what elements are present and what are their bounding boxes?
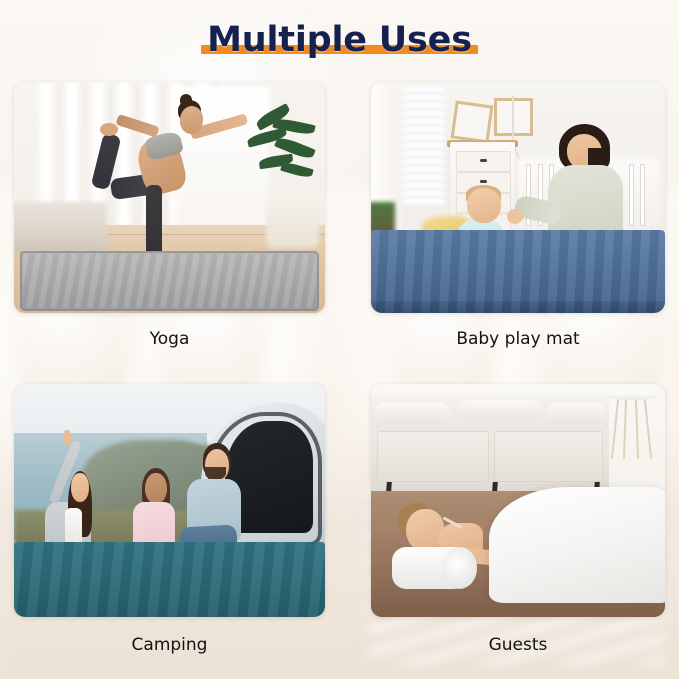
panel-guests[interactable] [371, 384, 665, 617]
title-text: Multiple Uses [207, 23, 472, 58]
guests-duvet [489, 487, 665, 604]
yoga-raised-foot [100, 123, 118, 136]
baby-play-mat-object [371, 230, 665, 313]
title-wrapper: Multiple Uses [201, 23, 478, 58]
woman-pointing-hand [63, 430, 71, 444]
panel-yoga[interactable] [14, 82, 325, 313]
guests-bolster-pillow-end [442, 547, 477, 589]
woman-head [71, 473, 89, 502]
caption-yoga: Yoga [14, 331, 325, 348]
baby-head [467, 188, 501, 223]
sofa-bolster [547, 403, 606, 424]
yoga-mat-texture [23, 254, 316, 308]
camping-mat [14, 542, 325, 617]
panel-baby-play-mat[interactable] [371, 82, 665, 313]
baby-mat-edge [371, 301, 665, 313]
caption-camping: Camping [14, 637, 325, 654]
sofa-cushion [494, 431, 603, 482]
baby-drawer-knob [480, 180, 487, 183]
photo-guests [371, 384, 665, 617]
photo-yoga [14, 82, 325, 313]
caption-guests: Guests [371, 637, 665, 654]
use-case-grid: Yoga [0, 0, 679, 679]
yoga-mat [20, 251, 319, 311]
baby-drawer-knob [480, 159, 487, 162]
side-table-top [606, 393, 659, 400]
side-table-leg [644, 400, 652, 458]
photo-camping [14, 384, 325, 617]
woman-shirt [65, 508, 83, 546]
page-title: Multiple Uses [0, 14, 679, 66]
sofa-bolster [374, 403, 450, 424]
sofa-bolster [459, 400, 541, 421]
panel-camping[interactable] [14, 384, 325, 617]
baby-hex-shelf [451, 100, 494, 143]
yoga-back-arm [115, 114, 159, 137]
side-table-leg [611, 400, 619, 458]
camping-mat-texture [14, 542, 325, 617]
girl-head [145, 473, 167, 505]
photo-baby-play-mat [371, 82, 665, 313]
side-table-leg [623, 400, 627, 459]
sofa-cushion [377, 431, 489, 482]
caption-baby-play-mat: Baby play mat [371, 331, 665, 348]
guests-side-table [606, 393, 659, 472]
side-table-leg [635, 400, 639, 459]
